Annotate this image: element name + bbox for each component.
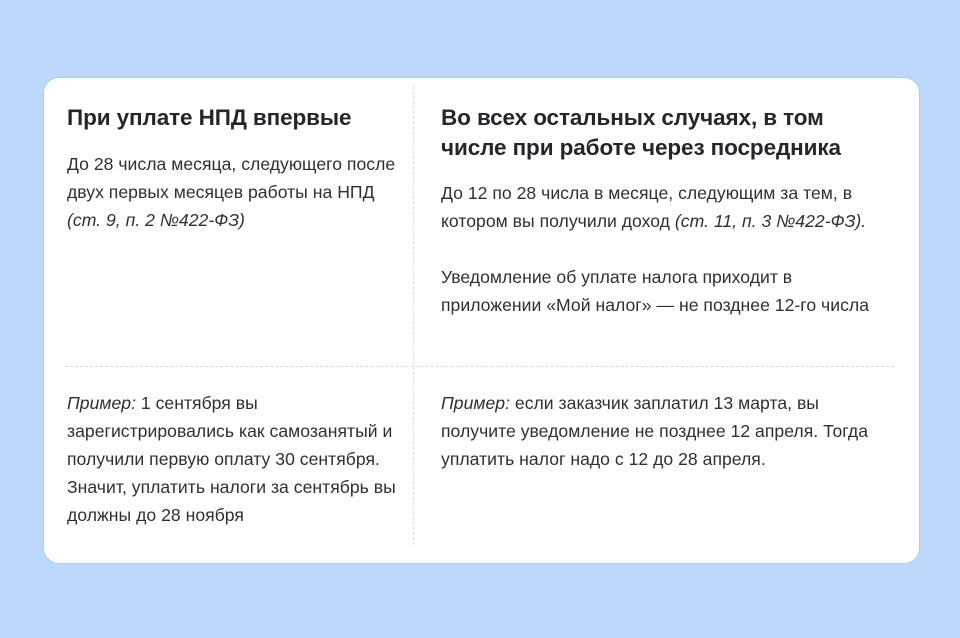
right-column-deadline-law-reference: (ст. 11, п. 3 №422-ФЗ). — [675, 211, 866, 231]
right-column-example: Пример: если заказчик заплатил 13 марта,… — [441, 389, 891, 473]
left-column-example: Пример: 1 сентября вы зарегистрировались… — [67, 389, 403, 529]
column-first-time-npd: При уплате НПД впервые До 28 числа месяц… — [44, 78, 413, 563]
card-columns: При уплате НПД впервые До 28 числа месяц… — [44, 78, 919, 563]
right-column-top-cell: Во всех остальных случаях, в том числе п… — [413, 78, 919, 366]
page-root: При уплате НПД впервые До 28 числа месяц… — [0, 0, 960, 638]
right-column-bottom-cell: Пример: если заказчик заплатил 13 марта,… — [413, 366, 919, 563]
left-column-bottom-cell: Пример: 1 сентября вы зарегистрировались… — [44, 366, 413, 563]
left-column-example-label: Пример: — [67, 393, 136, 413]
info-card: При уплате НПД впервые До 28 числа месяц… — [43, 77, 920, 564]
left-column-top-cell: При уплате НПД впервые До 28 числа месяц… — [44, 78, 413, 366]
right-column-deadline-text: До 12 по 28 числа в месяце, следующим за… — [441, 179, 891, 235]
right-column-heading: Во всех остальных случаях, в том числе п… — [441, 103, 891, 163]
right-column-notice-text: Уведомление об уплате налога приходит в … — [441, 263, 891, 319]
left-column-deadline-text: До 28 числа месяца, следующего после дву… — [67, 150, 403, 234]
left-column-deadline-plain: До 28 числа месяца, следующего после дву… — [67, 154, 395, 202]
left-column-heading: При уплате НПД впервые — [67, 103, 403, 133]
right-column-example-label: Пример: — [441, 393, 510, 413]
left-column-deadline-law-reference: (ст. 9, п. 2 №422-ФЗ) — [67, 210, 245, 230]
column-all-other-cases: Во всех остальных случаях, в том числе п… — [413, 78, 919, 563]
